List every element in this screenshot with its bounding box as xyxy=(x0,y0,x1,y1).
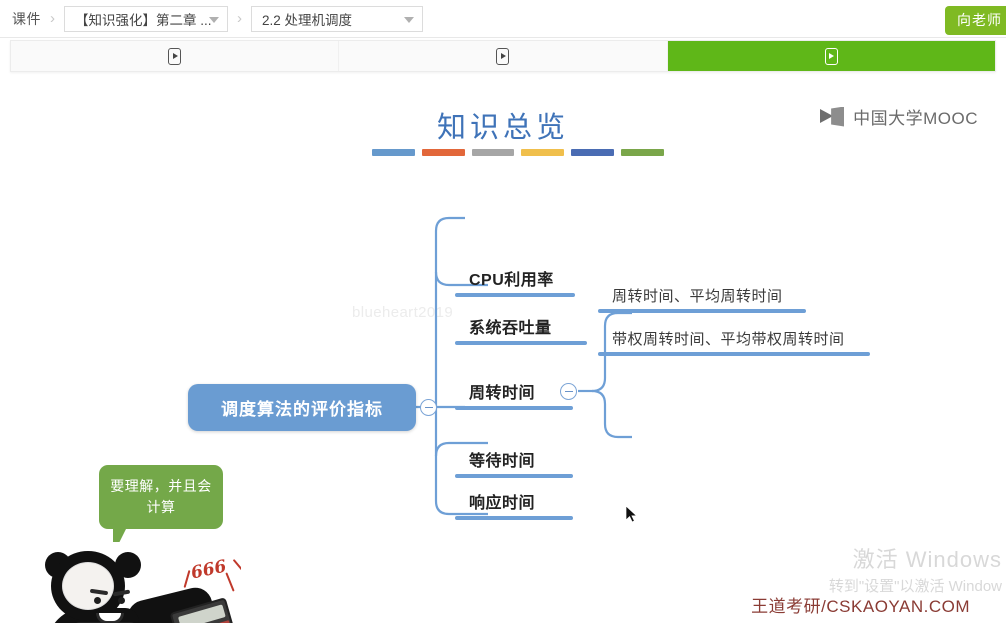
meme-666-text: 666 xyxy=(189,557,228,584)
play-icon xyxy=(168,48,181,65)
sub-branch-label: 带权周转时间、平均带权周转时间 xyxy=(598,328,870,349)
branch-underline xyxy=(455,516,573,520)
panda-meme-image: 666 xyxy=(41,542,241,623)
lesson-dropdown-value: 2.2 处理机调度 xyxy=(262,9,352,29)
mindmap: 调度算法的评价指标 CPU利用率 系统吞吐量 周转时间 等待时间 响应时间 xyxy=(0,76,1006,623)
chapter-dropdown[interactable]: 【知识强化】第二章 ... xyxy=(64,6,228,32)
mindmap-sub-weighted-turnaround[interactable]: 带权周转时间、平均带权周转时间 xyxy=(598,328,870,356)
collapse-minus-icon-root[interactable] xyxy=(420,399,437,416)
activation-title: 激活 Windows xyxy=(829,544,1002,576)
breadcrumb-separator-1: › xyxy=(50,10,55,27)
course-player-page: 课件 › 【知识强化】第二章 ... › 2.2 处理机调度 向老师 知识总览 xyxy=(0,0,1006,623)
windows-activation-watermark: 激活 Windows 转到"设置"以激活 Window xyxy=(829,544,1002,598)
panda-face xyxy=(88,588,134,623)
branch-label: CPU利用率 xyxy=(455,266,575,290)
slide-segment-bar xyxy=(10,40,996,72)
branch-underline xyxy=(455,341,587,345)
footer-brand: 王道考研/CSKAOYAN.COM xyxy=(751,592,970,617)
mindmap-branch-response[interactable]: 响应时间 xyxy=(455,489,573,520)
mouse-cursor xyxy=(626,506,638,524)
branch-underline xyxy=(455,406,573,410)
chapter-dropdown-value: 【知识强化】第二章 ... xyxy=(75,9,212,29)
breadcrumb-root[interactable]: 课件 xyxy=(12,9,41,29)
play-icon xyxy=(496,48,509,65)
ask-teacher-button[interactable]: 向老师 xyxy=(945,6,1006,35)
mindmap-branch-turnaround[interactable]: 周转时间 xyxy=(455,379,573,410)
breadcrumb-bar: 课件 › 【知识强化】第二章 ... › 2.2 处理机调度 向老师 xyxy=(0,0,1006,38)
embedded-video[interactable]: 666 xyxy=(41,542,241,623)
segment-3[interactable] xyxy=(668,41,995,71)
chevron-down-icon xyxy=(404,17,414,23)
lesson-dropdown[interactable]: 2.2 处理机调度 xyxy=(251,6,423,32)
branch-label: 等待时间 xyxy=(455,447,573,471)
branch-underline xyxy=(455,474,573,478)
segment-2[interactable] xyxy=(339,41,667,71)
slide-canvas: 知识总览 中国大学MOOC blueheart2019 xyxy=(0,76,1006,623)
mindmap-branch-waiting[interactable]: 等待时间 xyxy=(455,447,573,478)
branch-label: 系统吞吐量 xyxy=(455,314,587,338)
breadcrumb-separator-2: › xyxy=(237,10,242,27)
panda-head xyxy=(51,551,125,621)
mindmap-branch-cpu[interactable]: CPU利用率 xyxy=(455,266,575,297)
branch-underline xyxy=(455,293,575,297)
segment-1[interactable] xyxy=(11,41,339,71)
play-icon xyxy=(825,48,838,65)
sub-branch-label: 周转时间、平均周转时间 xyxy=(598,285,806,306)
chevron-down-icon xyxy=(209,17,219,23)
branch-label: 响应时间 xyxy=(455,489,573,513)
branch-label: 周转时间 xyxy=(455,379,573,403)
mindmap-branch-throughput[interactable]: 系统吞吐量 xyxy=(455,314,587,345)
sub-branch-underline xyxy=(598,352,870,356)
mindmap-root-node[interactable]: 调度算法的评价指标 xyxy=(188,384,416,431)
callout-bubble: 要理解，并且会计算 xyxy=(99,465,223,529)
mindmap-sub-turnaround-avg[interactable]: 周转时间、平均周转时间 xyxy=(598,285,806,313)
sub-branch-underline xyxy=(598,309,806,313)
